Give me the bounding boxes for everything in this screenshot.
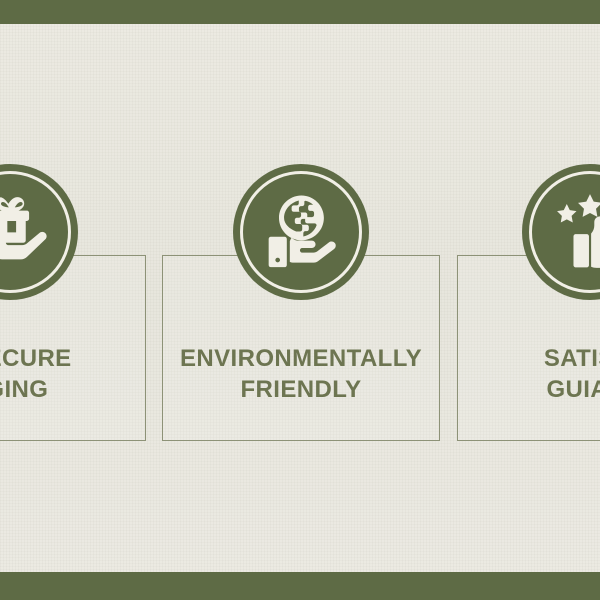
thumbs-up-stars-icon xyxy=(547,189,600,275)
feature-badge-environmentally-friendly xyxy=(233,164,369,300)
feature-label-environmentally-friendly: ENVIRONMENTALLY FRIENDLY xyxy=(163,344,439,405)
hand-holding-globe-icon xyxy=(258,189,344,275)
feature-label-safe-secure-packaging: D SECURE AGING xyxy=(0,344,145,405)
promo-banner: D SECURE AGING ENVIRONMENTALLY FRIENDLY … xyxy=(0,0,600,600)
bottom-green-band xyxy=(0,572,600,600)
top-green-band xyxy=(0,0,600,24)
feature-label-satisfaction-guaranteed: SATISFA GUIARA xyxy=(458,344,600,405)
hand-holding-gift-icon xyxy=(0,189,53,275)
